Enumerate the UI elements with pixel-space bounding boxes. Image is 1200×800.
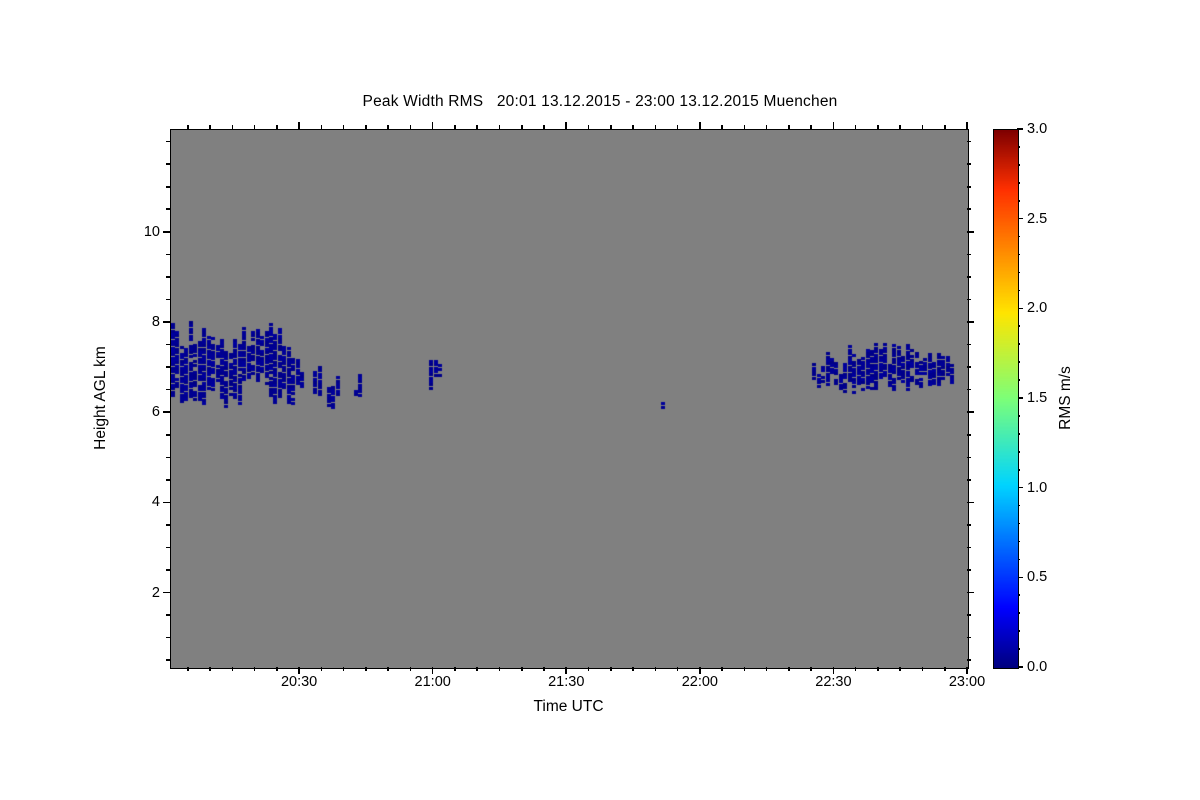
- x-tick-label: 22:30: [815, 674, 851, 690]
- y-axis-tick: [967, 659, 971, 661]
- x-axis-tick: [499, 667, 501, 671]
- x-tick-label: 23:00: [949, 674, 985, 690]
- x-axis-tick: [899, 667, 901, 671]
- x-axis-tick: [610, 125, 612, 129]
- y-axis-tick: [967, 141, 971, 143]
- y-axis-tick: [967, 434, 971, 436]
- x-axis-tick: [610, 667, 612, 671]
- x-axis-tick: [187, 667, 189, 671]
- x-axis-tick: [810, 125, 812, 129]
- x-axis-tick: [254, 125, 256, 129]
- y-axis-tick: [163, 592, 170, 594]
- figure-canvas: Peak Width RMS 20:01 13.12.2015 - 23:00 …: [0, 0, 1200, 800]
- y-tick-label: 10: [124, 224, 160, 240]
- y-axis-tick: [166, 366, 170, 368]
- y-axis-tick: [166, 434, 170, 436]
- x-axis-tick: [476, 125, 478, 129]
- heatmap-data-layer: [171, 130, 968, 668]
- x-axis-tick: [209, 667, 211, 671]
- x-axis-tick: [343, 125, 345, 129]
- colorbar: [993, 129, 1019, 669]
- x-axis-tick: [321, 125, 323, 129]
- x-axis-tick: [432, 122, 434, 129]
- x-tick-label: 21:00: [415, 674, 451, 690]
- x-axis-tick: [966, 667, 968, 674]
- y-axis-tick: [166, 254, 170, 256]
- colorbar-tick-label: 2.0: [1027, 300, 1047, 316]
- x-axis-tick: [810, 667, 812, 671]
- x-axis-tick: [744, 125, 746, 129]
- y-axis-tick: [163, 321, 170, 323]
- y-axis-tick: [967, 389, 971, 391]
- x-axis-tick: [944, 125, 946, 129]
- plot-title: Peak Width RMS 20:01 13.12.2015 - 23:00 …: [0, 93, 1200, 111]
- y-axis-tick: [166, 141, 170, 143]
- x-axis-tick: [476, 667, 478, 671]
- x-axis-label: Time UTC: [170, 698, 967, 716]
- x-axis-tick: [410, 667, 412, 671]
- y-axis-tick: [166, 659, 170, 661]
- colorbar-tick-label: 2.5: [1027, 211, 1047, 227]
- x-axis-tick: [877, 667, 879, 671]
- x-axis-tick: [766, 125, 768, 129]
- y-axis-tick: [163, 231, 170, 233]
- x-axis-tick: [944, 667, 946, 671]
- x-axis-tick: [521, 125, 523, 129]
- x-axis-tick: [543, 125, 545, 129]
- x-axis-tick: [254, 667, 256, 671]
- y-axis-tick: [166, 163, 170, 165]
- y-axis-tick: [967, 186, 971, 188]
- x-axis-tick: [232, 125, 234, 129]
- x-axis-tick: [365, 667, 367, 671]
- x-axis-tick: [187, 125, 189, 129]
- x-axis-tick: [543, 667, 545, 671]
- y-axis-tick: [166, 389, 170, 391]
- y-axis-tick: [166, 524, 170, 526]
- x-axis-tick: [387, 667, 389, 671]
- y-axis-tick: [967, 614, 971, 616]
- y-axis-tick: [967, 547, 971, 549]
- x-axis-tick: [788, 667, 790, 671]
- x-axis-tick: [677, 667, 679, 671]
- x-axis-tick: [565, 667, 567, 674]
- y-axis-tick: [967, 411, 974, 413]
- x-axis-tick: [588, 125, 590, 129]
- y-axis-tick: [166, 479, 170, 481]
- x-axis-tick: [655, 667, 657, 671]
- y-axis-tick: [967, 502, 974, 504]
- y-axis-tick: [166, 614, 170, 616]
- x-tick-label: 20:30: [281, 674, 317, 690]
- y-axis-tick: [166, 186, 170, 188]
- x-axis-tick: [343, 667, 345, 671]
- colorbar-tick-label: 0.5: [1027, 569, 1047, 585]
- x-axis-tick: [721, 667, 723, 671]
- y-axis-tick: [967, 254, 971, 256]
- x-axis-tick: [721, 125, 723, 129]
- y-axis-tick: [166, 457, 170, 459]
- y-axis-tick: [163, 502, 170, 504]
- x-axis-tick: [298, 122, 300, 129]
- y-axis-tick: [967, 569, 971, 571]
- x-axis-tick: [766, 667, 768, 671]
- x-axis-tick: [232, 667, 234, 671]
- colorbar-label: RMS m/s: [1057, 366, 1075, 430]
- y-axis-tick: [166, 208, 170, 210]
- x-axis-tick: [499, 125, 501, 129]
- x-axis-tick: [588, 667, 590, 671]
- x-axis-tick: [521, 667, 523, 671]
- y-axis-tick: [166, 299, 170, 301]
- x-axis-tick: [833, 122, 835, 129]
- y-axis-tick: [163, 411, 170, 413]
- y-axis-tick: [967, 276, 971, 278]
- plot-axes-area: [170, 129, 969, 669]
- y-axis-tick: [967, 344, 971, 346]
- x-axis-tick: [410, 125, 412, 129]
- y-axis-tick: [967, 524, 971, 526]
- colorbar-tick-label: 3.0: [1027, 121, 1047, 137]
- x-axis-tick: [298, 667, 300, 674]
- x-axis-tick: [677, 125, 679, 129]
- x-axis-tick: [655, 125, 657, 129]
- x-axis-tick: [632, 125, 634, 129]
- x-axis-tick: [387, 125, 389, 129]
- x-axis-tick: [788, 125, 790, 129]
- y-axis-tick: [967, 479, 971, 481]
- x-axis-tick: [699, 667, 701, 674]
- x-axis-tick: [855, 125, 857, 129]
- y-axis-tick: [967, 457, 971, 459]
- x-tick-label: 22:00: [682, 674, 718, 690]
- y-axis-tick: [166, 276, 170, 278]
- y-tick-label: 2: [124, 585, 160, 601]
- colorbar-tick-label: 0.0: [1027, 659, 1047, 675]
- colorbar-tick-label: 1.0: [1027, 480, 1047, 496]
- y-axis-tick: [967, 231, 974, 233]
- x-axis-tick: [276, 125, 278, 129]
- x-axis-tick: [833, 667, 835, 674]
- y-axis-tick: [967, 592, 974, 594]
- x-axis-tick: [744, 667, 746, 671]
- y-axis-tick: [967, 321, 974, 323]
- x-axis-tick: [209, 125, 211, 129]
- y-axis-tick: [166, 569, 170, 571]
- y-axis-tick: [166, 547, 170, 549]
- y-tick-label: 6: [124, 404, 160, 420]
- x-tick-label: 21:30: [548, 674, 584, 690]
- y-axis-tick: [967, 163, 971, 165]
- x-axis-tick: [877, 125, 879, 129]
- y-axis-tick: [967, 208, 971, 210]
- x-axis-tick: [565, 122, 567, 129]
- x-axis-tick: [966, 122, 968, 129]
- x-axis-tick: [321, 667, 323, 671]
- x-axis-tick: [454, 667, 456, 671]
- x-axis-tick: [922, 125, 924, 129]
- y-axis-tick: [967, 637, 971, 639]
- y-tick-label: 4: [124, 494, 160, 510]
- y-axis-tick: [166, 637, 170, 639]
- x-axis-tick: [699, 122, 701, 129]
- x-axis-tick: [632, 667, 634, 671]
- x-axis-tick: [365, 125, 367, 129]
- y-axis-tick: [967, 366, 971, 368]
- x-axis-tick: [432, 667, 434, 674]
- colorbar-gradient: [994, 130, 1018, 668]
- x-axis-tick: [276, 667, 278, 671]
- colorbar-tick-label: 1.5: [1027, 390, 1047, 406]
- y-axis-tick: [166, 344, 170, 346]
- x-axis-tick: [855, 667, 857, 671]
- x-axis-tick: [454, 125, 456, 129]
- y-axis-tick: [967, 299, 971, 301]
- y-tick-label: 8: [124, 314, 160, 330]
- x-axis-tick: [899, 125, 901, 129]
- x-axis-tick: [922, 667, 924, 671]
- y-axis-label: Height AGL km: [92, 346, 110, 450]
